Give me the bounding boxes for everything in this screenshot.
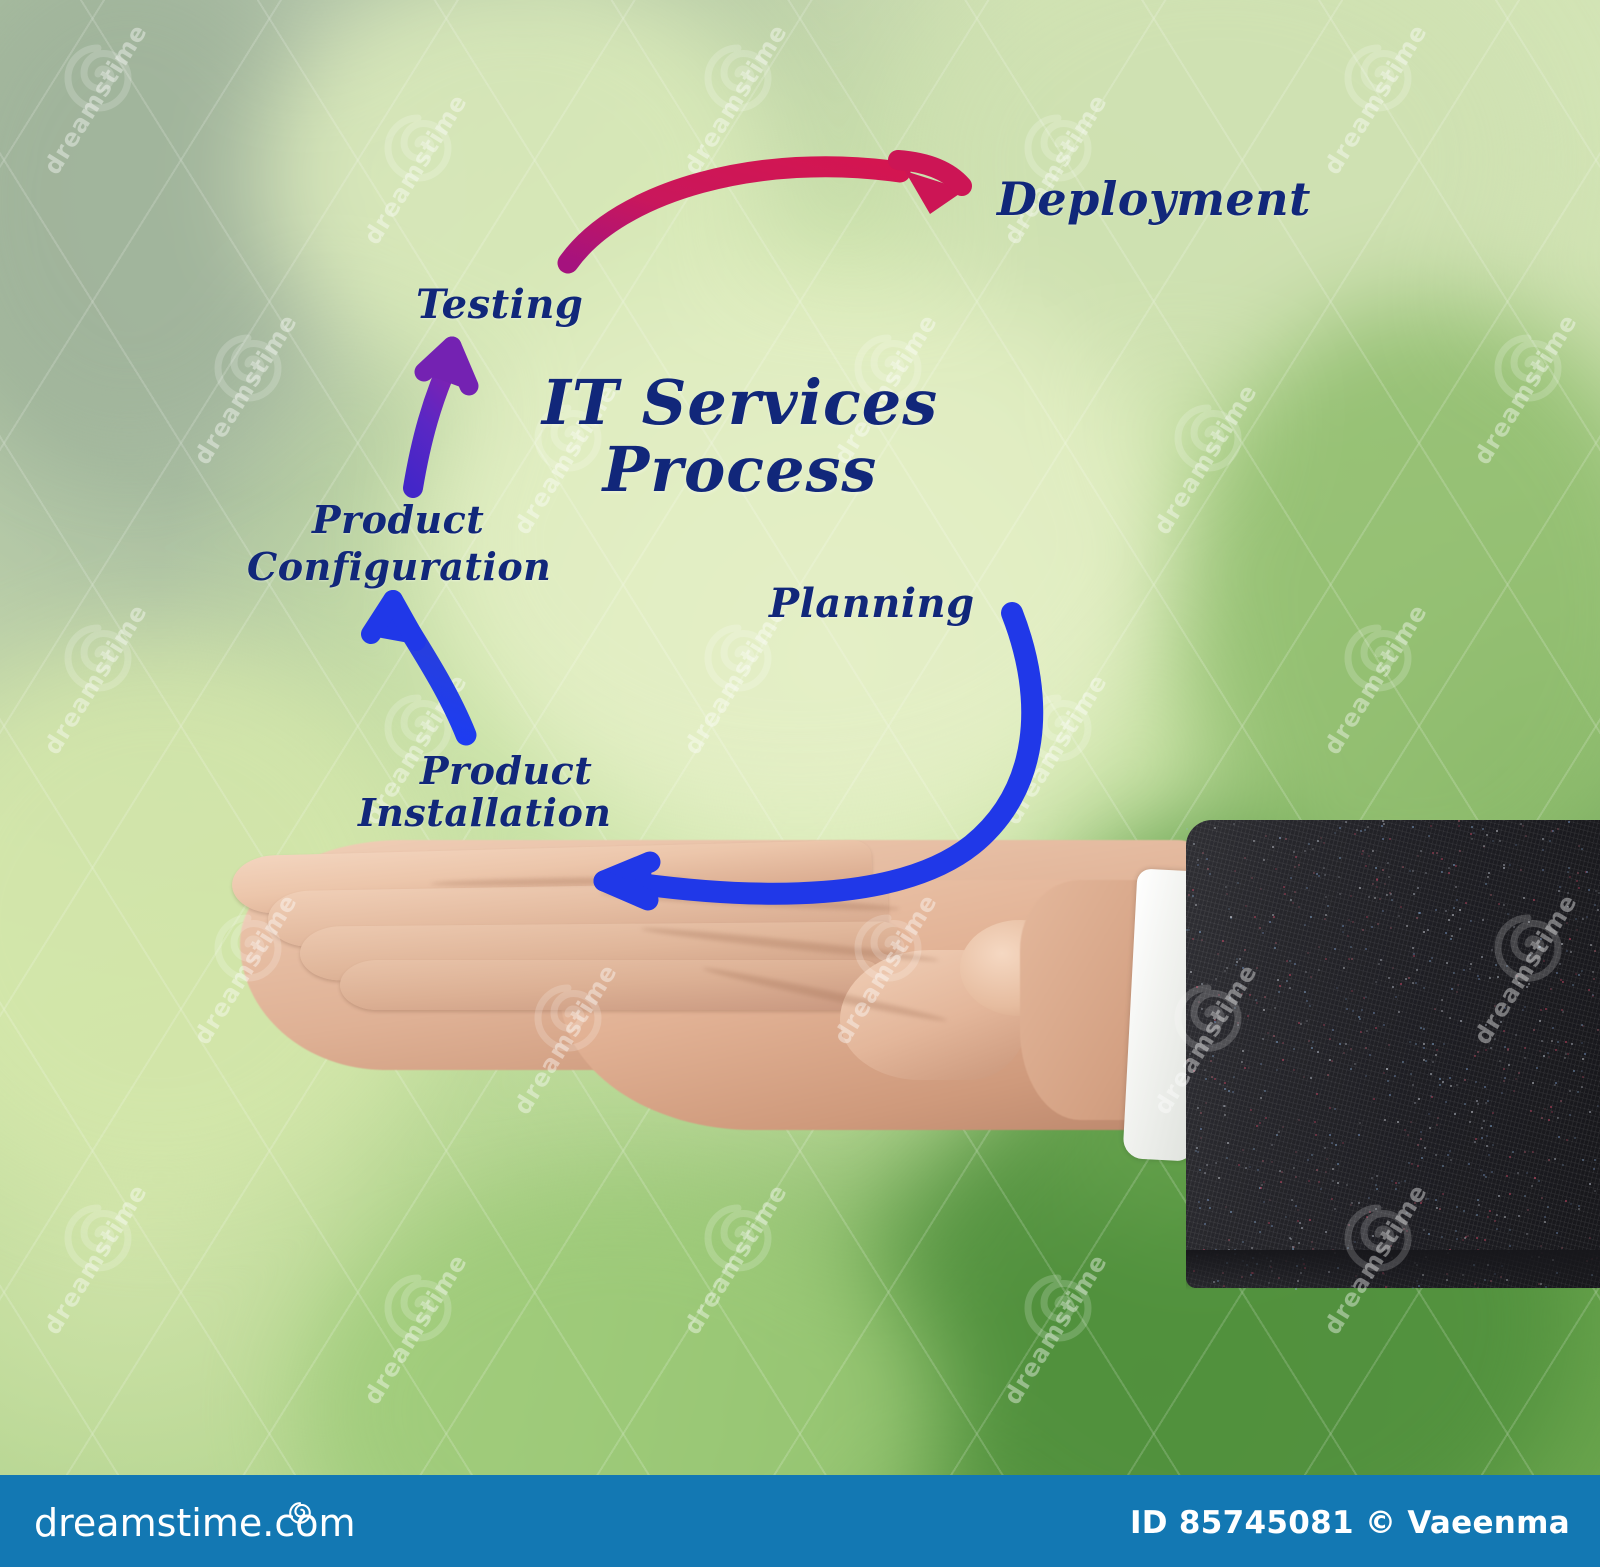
diagram-title-line1: IT Services (542, 366, 938, 439)
arrow-testing-to-deployment (568, 160, 965, 263)
diagram-title-line2: Process (603, 433, 878, 506)
node-label-configuration-line2: Configuration (247, 544, 551, 589)
image-canvas: dreamstime dreamstime dreamstime dreamst… (0, 0, 1600, 1567)
node-label-installation-line1: Product (420, 748, 592, 793)
dreamstime-logo: dreamstime.com (34, 1501, 355, 1545)
node-label-configuration-line1: Product (312, 497, 484, 542)
footer-bar: dreamstime.com ID 85745081 © Vaeenma (0, 1475, 1600, 1567)
node-label-testing: Testing (416, 281, 583, 328)
node-label-planning: Planning (769, 580, 975, 627)
node-label-deployment: Deployment (997, 172, 1311, 226)
arrow-installation-to-configuration (371, 598, 466, 735)
node-label-installation-line2: Installation (358, 790, 611, 835)
process-arrows (0, 0, 1600, 1567)
arrow-planning-to-installation (600, 613, 1032, 903)
image-credit: ID 85745081 © Vaeenma (1130, 1505, 1570, 1541)
diagram-title: IT Services Process (505, 370, 975, 504)
arrow-configuration-to-testing (413, 341, 474, 488)
spiral-icon (287, 1491, 313, 1535)
